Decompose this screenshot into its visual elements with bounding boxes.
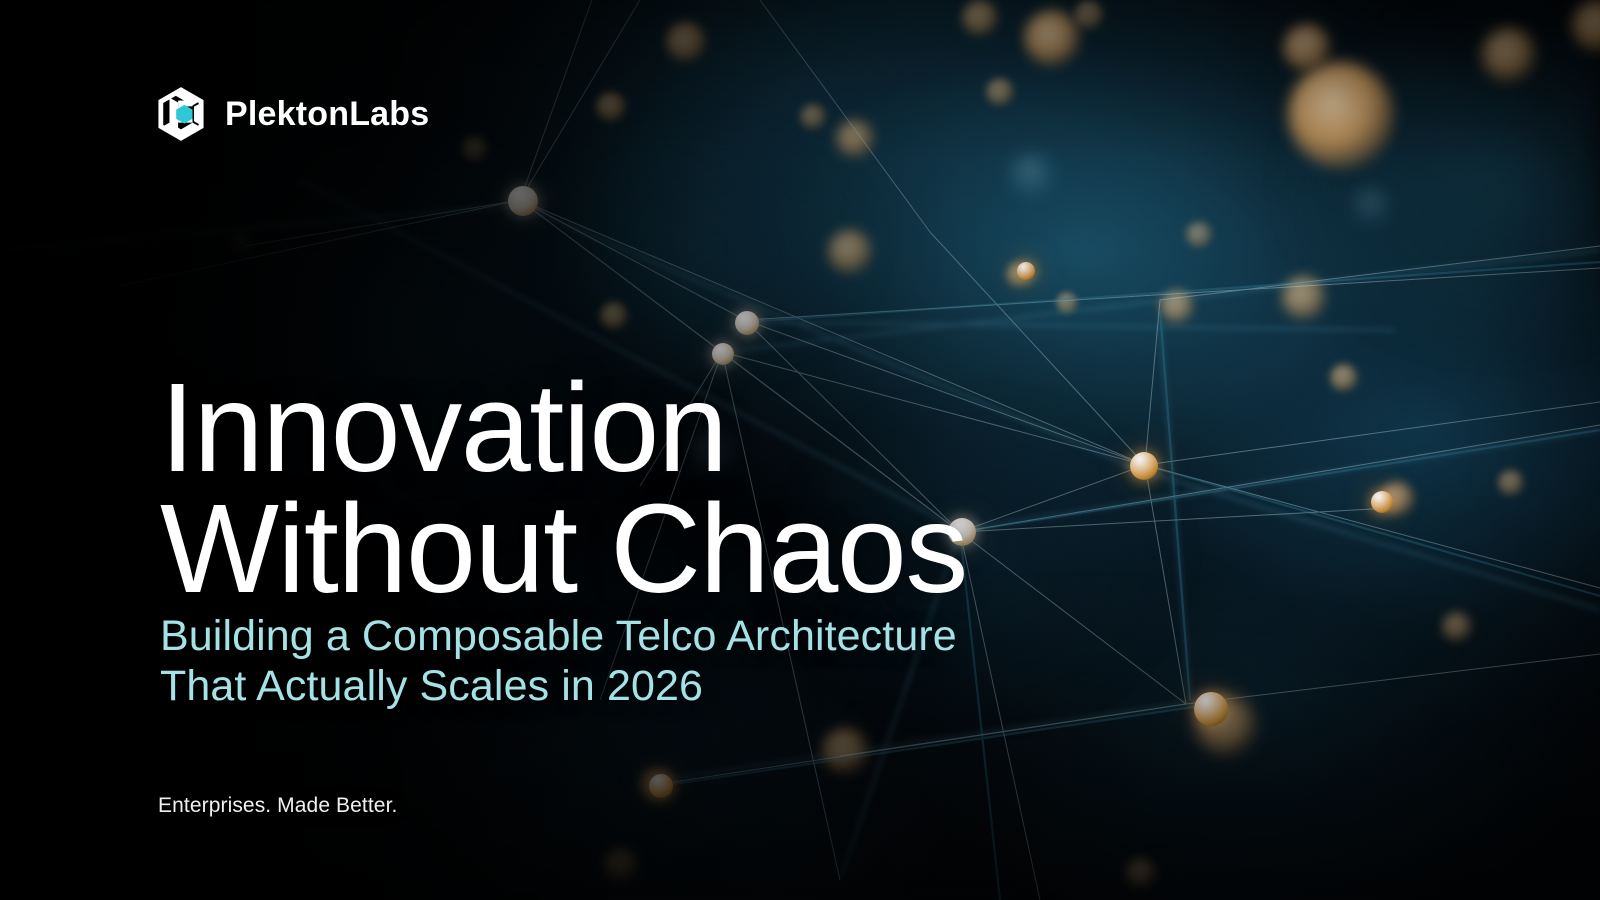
brand-wordmark: PlektonLabs <box>225 97 429 131</box>
hero-subheadline: Building a Composable Telco Architecture… <box>160 612 957 712</box>
brand-tagline: Enterprises. Made Better. <box>158 794 397 818</box>
hero-content: PlektonLabs Innovation Without Chaos Bui… <box>0 0 1600 900</box>
hero-headline: Innovation Without Chaos <box>160 368 967 610</box>
brand-logo-lockup[interactable]: PlektonLabs <box>157 87 429 141</box>
plekton-hexagon-p-logo-icon <box>157 87 205 141</box>
hero-slide: PlektonLabs Innovation Without Chaos Bui… <box>0 0 1600 900</box>
